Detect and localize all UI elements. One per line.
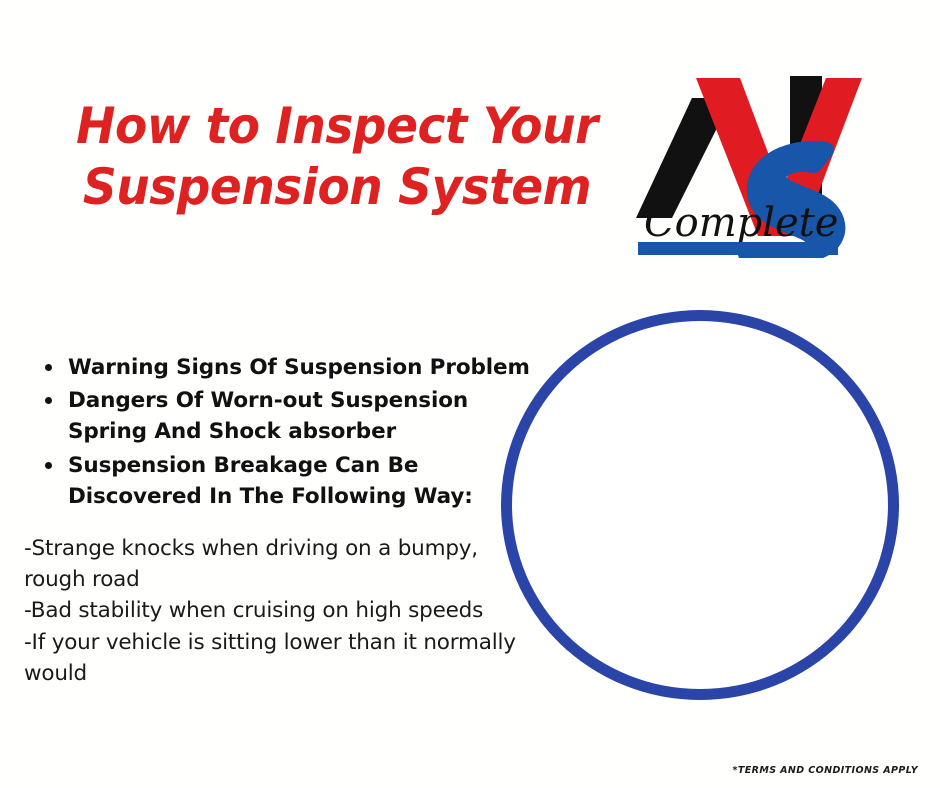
symptom-list: -Strange knocks when driving on a bumpy,… [24, 533, 534, 689]
bullet-dot-icon [45, 364, 52, 371]
avs-complete-logo-icon: Complete [630, 58, 870, 258]
logo-wordmark: Complete [644, 200, 838, 246]
poster-canvas: How to Inspect Your Suspension System Co… [0, 0, 940, 788]
bullet-text: Suspension Breakage Can Be Discovered In… [68, 453, 473, 509]
list-item: Dangers Of Worn-out Suspension Spring An… [34, 385, 534, 447]
symptom-line: -Bad stability when cruising on high spe… [24, 595, 534, 626]
bullet-dot-icon [45, 462, 52, 469]
product-circle-ring [501, 310, 899, 700]
symptom-line: -If your vehicle is sitting lower than i… [24, 627, 534, 689]
logo-underline-bar [638, 242, 838, 255]
list-item: Warning Signs Of Suspension Problem [34, 352, 534, 383]
page-title: How to Inspect Your Suspension System [42, 96, 632, 218]
title-line-2: Suspension System [60, 157, 615, 218]
list-item: Suspension Breakage Can Be Discovered In… [34, 450, 534, 512]
bullet-dot-icon [45, 397, 52, 404]
symptom-line: -Strange knocks when driving on a bumpy,… [24, 533, 534, 595]
bullet-text: Dangers Of Worn-out Suspension Spring An… [68, 388, 468, 444]
brand-logo: Complete [630, 58, 870, 258]
feature-bullet-list: Warning Signs Of Suspension Problem Dang… [34, 352, 534, 514]
bullet-text: Warning Signs Of Suspension Problem [68, 355, 530, 380]
title-line-1: How to Inspect Your [60, 96, 615, 157]
terms-disclaimer: *TERMS AND CONDITIONS APPLY [733, 765, 919, 776]
